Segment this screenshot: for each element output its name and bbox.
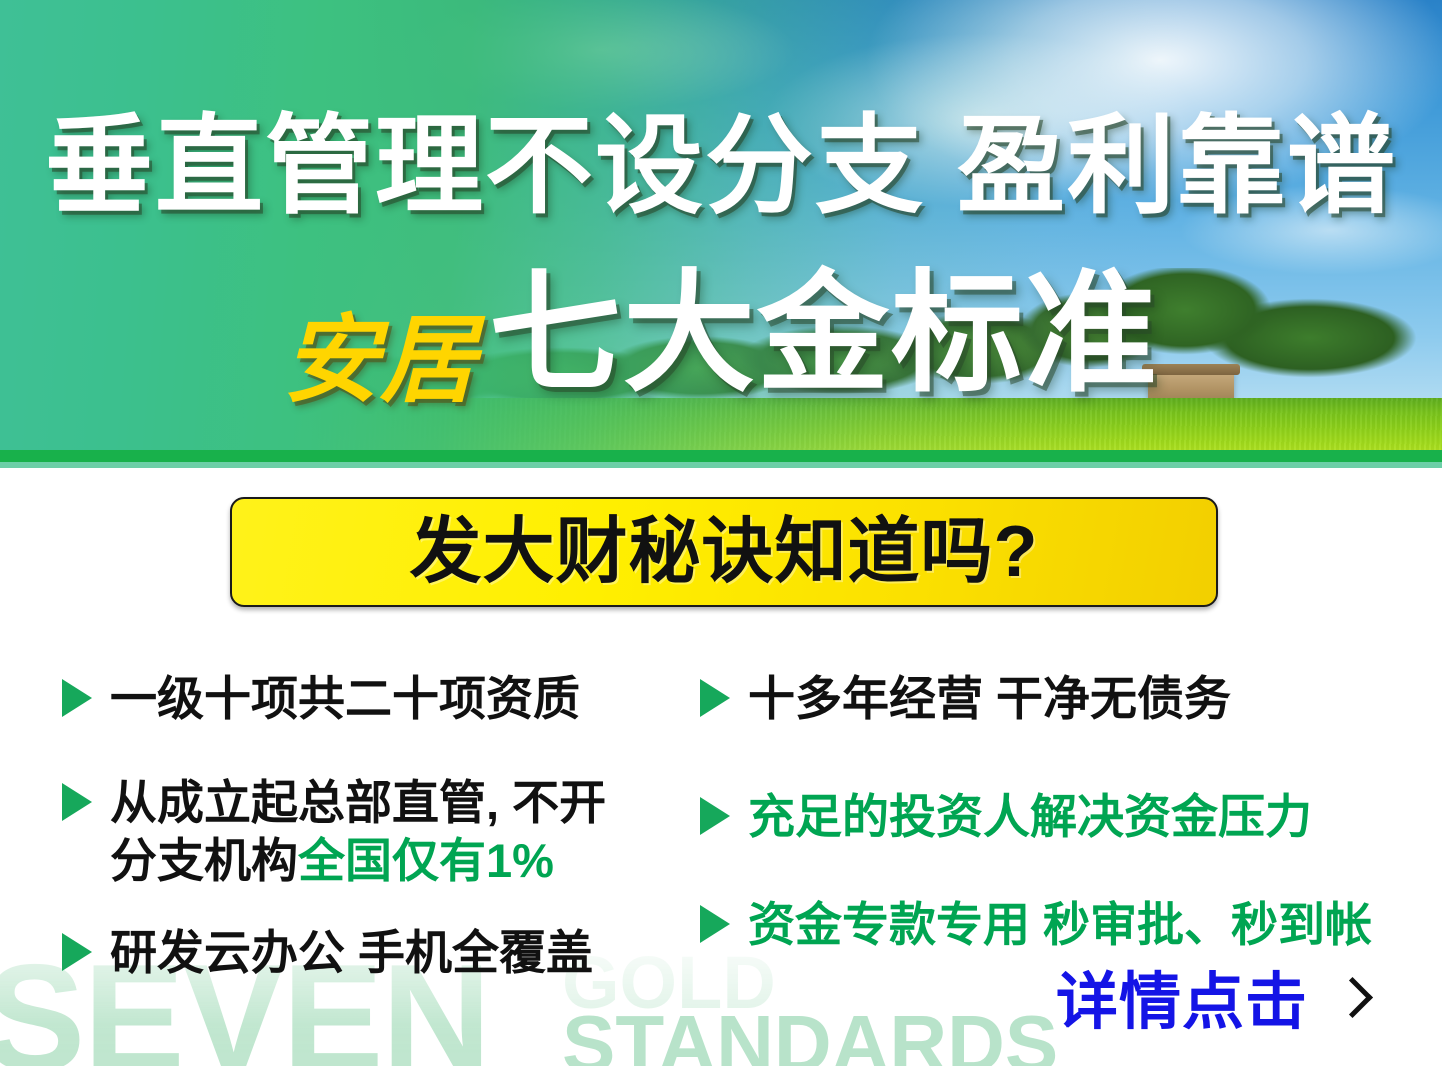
hero-subtitle-brand: 安居 xyxy=(283,313,477,409)
feature-text: 从成立起总部直管, 不开 分支机构全国仅有1% xyxy=(110,774,606,891)
hero-headline: 垂直管理不设分支 盈利靠谱 xyxy=(0,112,1442,220)
feature-text: 充足的投资人解决资金压力 xyxy=(748,788,1312,846)
callout-text: 发大财秘诀知道吗? xyxy=(410,516,1039,588)
features-section: 一级十项共二十项资质 从成立起总部直管, 不开 分支机构全国仅有1% 研发云办公… xyxy=(0,648,1442,978)
feature-text: 十多年经营 干净无债务 xyxy=(748,670,1231,728)
triangle-right-icon xyxy=(62,783,92,821)
hero-subtitle: 安居七大金标准 xyxy=(0,268,1442,400)
details-click-label: 详情点击 xyxy=(1056,972,1308,1034)
watermark-standards: STANDARDS xyxy=(562,1004,1058,1066)
hero-teal-band xyxy=(0,462,1442,468)
details-click-button[interactable]: 详情点击 xyxy=(1056,972,1368,1034)
list-item: 十多年经营 干净无债务 xyxy=(700,670,1231,728)
list-item: 从成立起总部直管, 不开 分支机构全国仅有1% xyxy=(62,774,606,891)
triangle-right-icon xyxy=(62,933,92,971)
list-item: 一级十项共二十项资质 xyxy=(62,670,580,728)
triangle-right-icon xyxy=(62,679,92,717)
feature-text-highlight: 全国仅有1% xyxy=(298,834,554,887)
feature-text: 一级十项共二十项资质 xyxy=(110,670,580,728)
promo-banner: 垂直管理不设分支 盈利靠谱 安居七大金标准 发大财秘诀知道吗? SEVEN GO… xyxy=(0,0,1442,1066)
chevron-right-icon[interactable] xyxy=(1334,976,1368,1030)
hero-section: 垂直管理不设分支 盈利靠谱 安居七大金标准 xyxy=(0,0,1442,468)
triangle-right-icon xyxy=(700,905,730,943)
feature-text: 研发云办公 手机全覆盖 xyxy=(110,924,593,982)
triangle-right-icon xyxy=(700,679,730,717)
triangle-right-icon xyxy=(700,797,730,835)
feature-text: 资金专款专用 秒审批、秒到帐 xyxy=(748,896,1372,954)
list-item: 充足的投资人解决资金压力 xyxy=(700,788,1312,846)
callout-banner[interactable]: 发大财秘诀知道吗? xyxy=(230,497,1218,607)
hero-green-band xyxy=(0,450,1442,462)
list-item: 资金专款专用 秒审批、秒到帐 xyxy=(700,896,1372,954)
hero-subtitle-main: 七大金标准 xyxy=(489,268,1159,400)
list-item: 研发云办公 手机全覆盖 xyxy=(62,924,593,982)
